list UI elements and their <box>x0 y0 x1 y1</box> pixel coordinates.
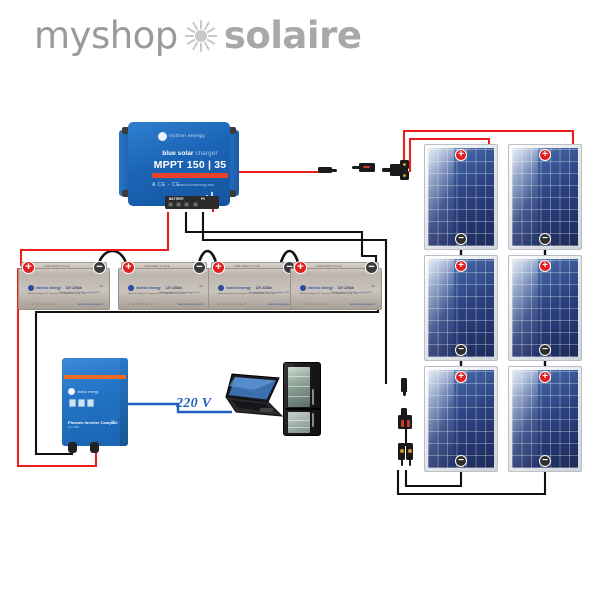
battery-terminal-positive[interactable]: + <box>294 261 307 274</box>
battery-3[interactable]: AGM DEEP CYCLE victron energy 12V 220Ah … <box>208 262 300 310</box>
inverter-body: victron energy Phoenix Inverter Compact … <box>62 358 128 446</box>
panel-terminal-positive[interactable]: + <box>455 371 467 383</box>
panel-terminal-positive[interactable]: + <box>539 371 551 383</box>
battery-spec-right: Charge voltage 14.4V Float voltage 13.8V <box>249 292 290 295</box>
terminal-battery-label: BATTERY <box>169 197 184 201</box>
controller-accent-stripe <box>152 173 228 178</box>
solar-panel-2[interactable]: + − <box>508 144 582 250</box>
panel-terminal-negative[interactable]: − <box>539 233 551 245</box>
victron-mark-icon <box>300 285 306 291</box>
battery-2[interactable]: AGM DEEP CYCLE victron energy 12V 220Ah … <box>118 262 210 310</box>
inverter-side-panel <box>120 358 128 446</box>
wire-array-negative-col1 <box>406 470 461 486</box>
panel-terminal-negative[interactable]: − <box>455 233 467 245</box>
battery-body: victron energy 12V 220Ah Nominal voltage… <box>208 268 300 310</box>
inverter-brand-text: victron energy <box>77 390 98 394</box>
solar-panel-5[interactable]: + − <box>424 366 498 472</box>
battery-body: victron energy 12V 220Ah Nominal voltage… <box>290 268 382 310</box>
battery-spec-right: Charge voltage 14.4V Float voltage 13.8V <box>159 292 200 295</box>
battery-terminal-positive[interactable]: + <box>212 261 225 274</box>
refrigerator-upper-handle <box>312 389 314 405</box>
battery-url: www.victronenergy.com <box>78 303 103 306</box>
solar-panel-1[interactable]: + − <box>424 144 498 250</box>
controller-small-print: www.victronenergy.com <box>178 183 214 187</box>
controller-product-light: charger <box>195 150 217 157</box>
battery-footer: A G M D E E P <box>300 303 329 306</box>
battery-1[interactable]: AGM DEEP CYCLE victron energy 12V 220Ah … <box>18 262 110 310</box>
controller-certs: A CE - CE <box>152 182 180 188</box>
controller-terminal-block[interactable]: BATTERY PV <box>165 196 219 209</box>
inverter-dc-positive-plug[interactable] <box>90 442 99 453</box>
panel-cells <box>428 370 494 468</box>
inverter-accent-stripe <box>64 375 126 379</box>
battery-footer: A G M D E E P <box>128 303 157 306</box>
controller-product-bold: blue solar <box>162 150 193 157</box>
inverter-submodel: 12 / 1200 <box>68 426 79 429</box>
panel-terminal-negative[interactable]: − <box>455 455 467 467</box>
victron-mark-icon <box>158 132 167 141</box>
inverter-dc-negative-plug[interactable] <box>68 442 77 453</box>
solar-panel-3[interactable]: + − <box>424 255 498 361</box>
battery-terminal-negative[interactable]: − <box>93 261 106 274</box>
battery-cert: CE <box>371 285 375 288</box>
battery-label: victron energy 12V 220Ah <box>128 285 202 291</box>
panel-terminal-positive[interactable]: + <box>455 149 467 161</box>
battery-brand: victron energy <box>36 286 61 290</box>
panel-terminal-positive[interactable]: + <box>539 260 551 272</box>
panel-cells <box>512 148 578 246</box>
controller-model: MPPT 150 | 35 <box>150 159 230 171</box>
laptop-base <box>226 397 282 416</box>
refrigerator-lower-handle <box>312 413 314 427</box>
battery-model: 12V 220Ah <box>256 286 272 290</box>
battery-4[interactable]: AGM DEEP CYCLE victron energy 12V 220Ah … <box>290 262 382 310</box>
panel-terminal-positive[interactable]: + <box>539 149 551 161</box>
battery-terminal-positive[interactable]: + <box>122 261 135 274</box>
battery-model: 12V 220Ah <box>66 286 82 290</box>
battery-brand: victron energy <box>226 286 251 290</box>
controller-brand-text: victron energy <box>169 134 205 139</box>
mppt-charge-controller[interactable]: victron energy blue solar charger MPPT 1… <box>118 120 240 216</box>
battery-footer: A G M D E E P <box>28 303 57 306</box>
battery-body: victron energy 12V 220Ah Nominal voltage… <box>18 268 110 310</box>
refrigerator-door-divider <box>286 408 320 410</box>
battery-body: victron energy 12V 220Ah Nominal voltage… <box>118 268 210 310</box>
victron-logo: victron energy <box>158 132 220 141</box>
inverter-switch-panel[interactable] <box>69 399 94 407</box>
ac-voltage-label: 220 V <box>176 396 211 412</box>
panel-terminal-negative[interactable]: − <box>539 344 551 356</box>
battery-spec-right: Charge voltage 14.4V Float voltage 13.8V <box>59 292 100 295</box>
controller-product-line: blue solar charger <box>150 150 230 157</box>
battery-spec-right: Charge voltage 14.4V Float voltage 13.8V <box>331 292 372 295</box>
battery-url: www.victronenergy.com <box>350 303 375 306</box>
panel-terminal-negative[interactable]: − <box>539 455 551 467</box>
inverter[interactable]: victron energy Phoenix Inverter Compact … <box>62 358 134 454</box>
panel-cells <box>512 259 578 357</box>
panel-cells <box>428 148 494 246</box>
battery-brand: victron energy <box>136 286 161 290</box>
panel-cells <box>428 259 494 357</box>
battery-cert: CE <box>199 285 203 288</box>
battery-model: 12V 220Ah <box>166 286 182 290</box>
panel-terminal-positive[interactable]: + <box>455 260 467 272</box>
battery-cert: CE <box>99 285 103 288</box>
panel-cells <box>512 370 578 468</box>
victron-mark-icon <box>68 388 75 395</box>
terminal-screws <box>168 202 198 207</box>
victron-mark-icon <box>128 285 134 291</box>
victron-mark-icon <box>218 285 224 291</box>
battery-url: www.victronenergy.com <box>178 303 203 306</box>
battery-terminal-negative[interactable]: − <box>193 261 206 274</box>
victron-logo: victron energy <box>68 388 98 395</box>
battery-model: 12V 220Ah <box>338 286 354 290</box>
refrigerator-body <box>283 362 321 436</box>
wire-controller-battery-positive <box>21 212 168 266</box>
solar-panel-4[interactable]: + − <box>508 255 582 361</box>
battery-terminal-negative[interactable]: − <box>365 261 378 274</box>
battery-terminal-positive[interactable]: + <box>22 261 35 274</box>
refrigerator-upper-door <box>288 367 310 407</box>
victron-mark-icon <box>28 285 34 291</box>
solar-panel-6[interactable]: + − <box>508 366 582 472</box>
battery-footer: A G M D E E P <box>218 303 247 306</box>
wire-array-negative-col2 <box>398 470 545 494</box>
inverter-cert: CE <box>111 419 115 423</box>
controller-body: victron energy blue solar charger MPPT 1… <box>128 122 230 206</box>
battery-brand: victron energy <box>308 286 333 290</box>
refrigerator <box>283 362 321 436</box>
refrigerator-lower-door <box>288 412 310 433</box>
battery-label: victron energy 12V 220Ah <box>28 285 102 291</box>
laptop <box>224 372 286 424</box>
terminal-pv-label: PV <box>201 197 205 201</box>
panel-terminal-negative[interactable]: − <box>455 344 467 356</box>
battery-label: victron energy 12V 220Ah <box>218 285 292 291</box>
wiring-diagram: victron energy blue solar charger MPPT 1… <box>0 0 600 600</box>
battery-label: victron energy 12V 220Ah <box>300 285 374 291</box>
